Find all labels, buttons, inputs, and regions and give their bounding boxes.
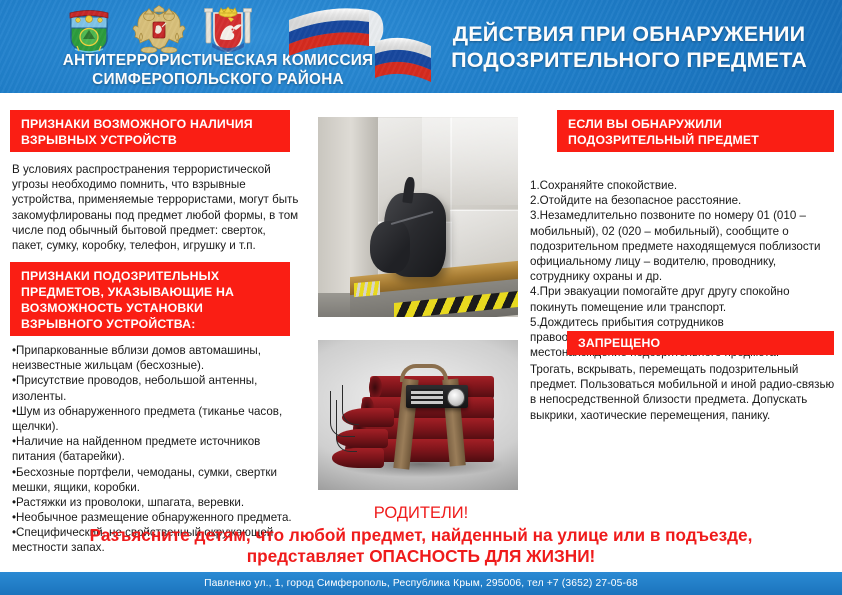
explosive-device-photo <box>318 340 518 490</box>
parents-line-2: представляет ОПАСНОСТЬ ДЛЯ ЖИЗНИ! <box>0 546 842 567</box>
list-item: 4.При эвакуации помогайте друг другу спо… <box>530 284 836 314</box>
footer-contact-text: Павленко ул., 1, город Симферополь, Респ… <box>204 578 638 589</box>
emblem-group <box>63 3 253 55</box>
banner-signs-of-explosives: ПРИЗНАКИ ВОЗМОЖНОГО НАЛИЧИЯ ВЗРЫВНЫХ УСТ… <box>10 110 290 152</box>
list-item: •Шум из обнаруженного предмета (тиканье … <box>12 404 302 434</box>
page-title: ДЕЙСТВИЯ ПРИ ОБНАРУЖЕНИИ ПОДОЗРИТЕЛЬНОГО… <box>424 21 834 73</box>
list-item: 1.Сохраняйте спокойствие. <box>530 178 836 193</box>
banner-forbidden: ЗАПРЕЩЕНО <box>567 331 834 355</box>
russian-flag-ribbon-icon <box>283 2 435 90</box>
list-item: •Припаркованные вблизи домов автомашины,… <box>12 343 302 373</box>
list-item: •Присутствие проводов, небольшой антенны… <box>12 373 302 403</box>
russian-federation-coat-of-arms-icon <box>131 5 187 55</box>
list-item: •Бесхозные портфели, чемоданы, сумки, св… <box>12 465 302 495</box>
simferopol-district-coat-of-arms-icon <box>63 5 115 55</box>
banner-signs-of-suspicious-objects: ПРИЗНАКИ ПОДОЗРИТЕЛЬНЫХ ПРЕДМЕТОВ, УКАЗЫ… <box>10 262 290 336</box>
abandoned-backpack-photo <box>318 117 518 317</box>
list-item: •Наличие на найденном предмете источнико… <box>12 434 302 464</box>
paragraph-explosives-camouflage: В условиях распространения террористичес… <box>12 162 300 253</box>
list-item: 2.Отойдите на безопасное расстояние. <box>530 193 836 208</box>
crimea-coat-of-arms-icon <box>203 5 253 55</box>
parents-warning-block: РОДИТЕЛИ! Разъясните детям, что любой пр… <box>0 504 842 567</box>
list-item: 3.Незамедлительно позвоните по номеру 01… <box>530 208 836 284</box>
parents-heading: РОДИТЕЛИ! <box>0 504 842 523</box>
poster-header: АНТИТЕРРОРИСТИЧЕСКАЯ КОМИССИЯ СИМФЕРОПОЛ… <box>0 0 842 93</box>
poster-footer: Павленко ул., 1, город Симферополь, Респ… <box>0 572 842 595</box>
banner-if-you-found-suspicious-object: ЕСЛИ ВЫ ОБНАРУЖИЛИ ПОДОЗРИТЕЛЬНЫЙ ПРЕДМЕ… <box>557 110 834 152</box>
paragraph-forbidden-actions: Трогать, вскрывать, перемещать подозрите… <box>530 362 836 423</box>
device-timer-icon <box>406 385 468 408</box>
parents-line-1: Разъясните детям, что любой предмет, най… <box>0 525 842 546</box>
poster-root: АНТИТЕРРОРИСТИЧЕСКАЯ КОМИССИЯ СИМФЕРОПОЛ… <box>0 0 842 595</box>
